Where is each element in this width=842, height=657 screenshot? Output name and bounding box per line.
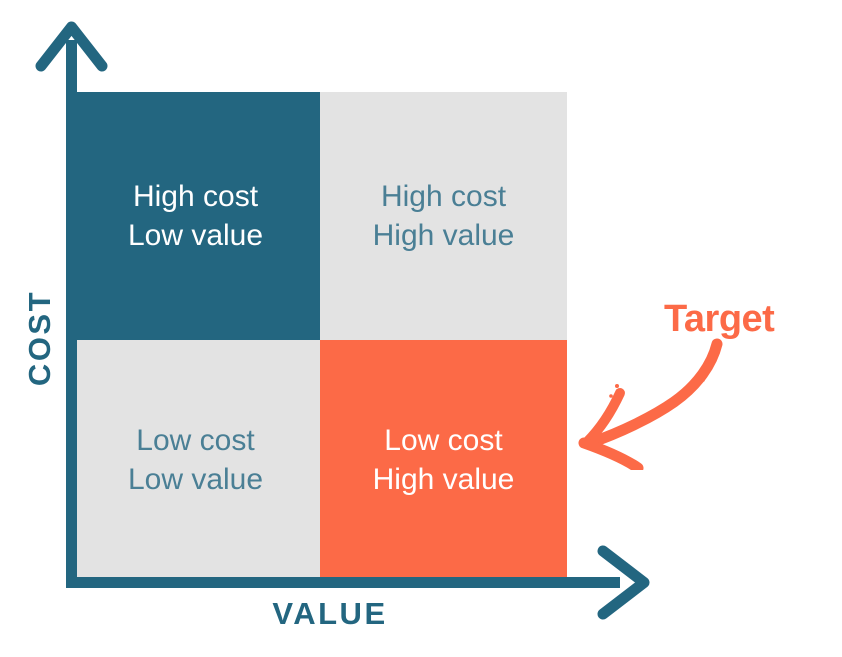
target-arrow-icon — [570, 330, 740, 470]
quadrant-grid: High cost Low value High cost High value… — [71, 92, 567, 580]
quadrant-low-cost-low-value[interactable]: Low cost Low value — [71, 340, 320, 580]
quadrant-matrix-diagram: High cost Low value High cost High value… — [0, 0, 842, 657]
arrow-barb-upper — [587, 393, 620, 442]
quadrant-high-cost-high-value[interactable]: High cost High value — [320, 92, 567, 340]
arrow-barb-lower — [584, 443, 638, 468]
quadrant-high-cost-low-value[interactable]: High cost Low value — [71, 92, 320, 340]
quadrant-line-1: High cost — [381, 177, 506, 216]
brush-speckle — [609, 394, 613, 398]
brush-speckle — [714, 353, 718, 357]
quadrant-line-1: Low cost — [384, 421, 502, 460]
x-axis-label: VALUE — [210, 596, 450, 632]
arrow-shaft — [590, 344, 717, 443]
quadrant-line-1: High cost — [133, 177, 258, 216]
quadrant-line-2: Low value — [128, 216, 263, 255]
quadrant-line-1: Low cost — [136, 421, 254, 460]
brush-speckle — [701, 378, 705, 382]
brush-speckle — [615, 384, 619, 388]
quadrant-low-cost-high-value[interactable]: Low cost High value — [320, 340, 567, 580]
target-annotation-label: Target — [664, 298, 774, 341]
y-axis-arrowhead-icon — [41, 27, 102, 66]
x-axis-arrowhead-icon — [603, 551, 644, 614]
y-axis-label: COST — [22, 278, 58, 398]
quadrant-line-2: High value — [373, 460, 515, 499]
brush-speckle — [708, 366, 712, 370]
quadrant-line-2: Low value — [128, 460, 263, 499]
quadrant-line-2: High value — [373, 216, 515, 255]
